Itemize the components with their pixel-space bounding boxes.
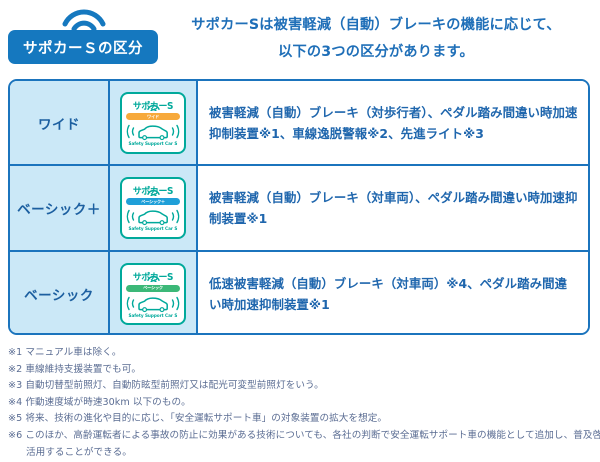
badge-grade-band: ベーシック (126, 285, 180, 292)
table-row: ワイド サポカーS ワイド (10, 81, 588, 166)
row-label-cell: ベーシック＋ (10, 166, 110, 249)
sapocar-s-badge: サポカーS ベーシック＋ (120, 177, 186, 239)
footnote-4: ※4 作動速度域が時速30km 以下のもの。 (8, 395, 594, 412)
row-logo-cell: サポカーS ワイド (110, 81, 198, 164)
car-with-sensor-waves-icon (125, 293, 181, 314)
header-badge-group: サポカーＳの区分 (8, 6, 160, 70)
row-description-cell: 被害軽減（自動）ブレーキ（対歩行者）、ペダル踏み間違い時加速抑制装置※1、車線逸… (198, 81, 588, 164)
badge-grade-band: ワイド (126, 113, 180, 120)
footnote-5: ※5 将来、技術の進化や目的に応じ、「安全運転サポート車」の対象装置の拡大を想定… (8, 411, 594, 428)
badge-footer-text: Safety Support Car S (129, 142, 178, 147)
sapocar-s-badge: サポカーS ベーシック (120, 263, 186, 325)
badge-grade-text: ベーシック (143, 285, 163, 291)
footnote-6-line-2: 活用することができる。 (8, 445, 594, 462)
badge-footer-text: Safety Support Car S (129, 227, 178, 232)
section-title-badge: サポカーＳの区分 (8, 30, 158, 64)
badge-title-text: サポカーS (133, 187, 173, 197)
page-header: サポカーＳの区分 サポカーSは被害軽減（自動）ブレーキの機能に応じて、 以下の3… (0, 0, 600, 78)
car-with-sensor-waves-icon (125, 206, 181, 227)
row-logo-cell: サポカーS ベーシック＋ (110, 166, 198, 249)
badge-grade-text: ワイド (147, 114, 159, 120)
car-with-sensor-waves-icon (125, 121, 181, 142)
badge-title-text: サポカーS (133, 273, 173, 283)
badge-footer-text: Safety Support Car S (129, 314, 178, 319)
table-row: ベーシック＋ サポカーS ベーシック＋ (10, 166, 588, 251)
footnote-6-line-1: ※6 このほか、高齢運転者による事故の防止に効果がある技術についても、各社の判断… (8, 428, 594, 445)
wifi-arc-icon (62, 8, 106, 30)
row-label-text: ワイド (38, 113, 80, 133)
footnote-2: ※2 車線維持支援装置でも可。 (8, 362, 594, 379)
section-title-text: サポカーＳの区分 (23, 37, 143, 58)
row-logo-cell: サポカーS ベーシック (110, 252, 198, 335)
row-description-text: 被害軽減（自動）ブレーキ（対歩行者）、ペダル踏み間違い時加速抑制装置※1、車線逸… (209, 102, 578, 144)
row-description-cell: 被害軽減（自動）ブレーキ（対車両）、ペダル踏み間違い時加速抑制装置※1 (198, 166, 588, 249)
badge-grade-band: ベーシック＋ (126, 198, 180, 205)
footnote-3: ※3 自動切替型前照灯、自動防眩型前照灯又は配光可変型前照灯をいう。 (8, 378, 594, 395)
table-row: ベーシック サポカーS ベーシック (10, 252, 588, 335)
header-line-1: サポカーSは被害軽減（自動）ブレーキの機能に応じて、 (160, 12, 592, 39)
row-description-cell: 低速被害軽減（自動）ブレーキ（対車両）※4、ペダル踏み間違い時加速抑制装置※1 (198, 252, 588, 335)
footnote-1: ※1 マニュアル車は除く。 (8, 345, 594, 362)
sapocar-s-badge: サポカーS ワイド (120, 92, 186, 154)
badge-title-text: サポカーS (133, 102, 173, 112)
row-label-cell: ベーシック (10, 252, 110, 335)
row-description-text: 低速被害軽減（自動）ブレーキ（対車両）※4、ペダル踏み間違い時加速抑制装置※1 (209, 273, 578, 315)
header-description: サポカーSは被害軽減（自動）ブレーキの機能に応じて、 以下の3つの区分があります… (160, 12, 592, 66)
row-label-text: ベーシック＋ (17, 198, 101, 218)
row-label-cell: ワイド (10, 81, 110, 164)
footnotes: ※1 マニュアル車は除く。 ※2 車線維持支援装置でも可。 ※3 自動切替型前照… (8, 345, 594, 461)
row-description-text: 被害軽減（自動）ブレーキ（対車両）、ペダル踏み間違い時加速抑制装置※1 (209, 187, 578, 229)
sapocar-category-table: ワイド サポカーS ワイド (8, 79, 590, 335)
row-label-text: ベーシック (24, 284, 94, 304)
header-line-2: 以下の3つの区分があります。 (160, 39, 592, 66)
badge-grade-text: ベーシック＋ (141, 199, 165, 205)
